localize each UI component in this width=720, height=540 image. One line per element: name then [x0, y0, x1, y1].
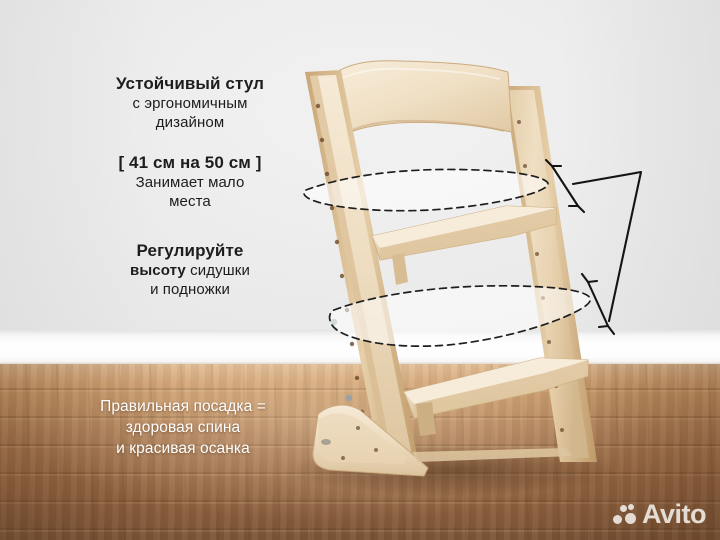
callout-adjustable-line2-rest: сидушки [186, 262, 250, 279]
callout-adjustable-line2: высоту сидушки [40, 261, 340, 280]
callout-adjustable-line1: Регулируйте [40, 240, 340, 261]
avito-watermark: Avito [613, 501, 706, 528]
callout-footprint: [ 41 см на 50 см ] Занимает мало места [40, 152, 340, 211]
product-photo-canvas: Устойчивый стул с эргономичным дизайном … [0, 0, 720, 540]
callout-footprint-line3: места [40, 192, 340, 211]
avito-dots-icon [613, 504, 637, 526]
floor-caption-line1: Правильная посадка = [28, 396, 338, 417]
callout-stability-line1: Устойчивый стул [40, 74, 340, 94]
chair-backrest [330, 61, 512, 142]
avito-wordmark: Avito [642, 501, 706, 528]
chair-seat-bracket [392, 253, 408, 285]
callout-stability-line2: с эргономичным [40, 94, 340, 113]
callout-adjustable: Регулируйте высоту сидушки и подножки [40, 240, 340, 299]
callout-stability-line3: дизайном [40, 113, 340, 132]
floor-caption-line2: здоровая спина [28, 417, 338, 438]
floor-caption-line3: и красивая осанка [28, 438, 338, 459]
callout-stability: Устойчивый стул с эргономичным дизайном [40, 74, 340, 132]
callout-adjustable-line3: и подножки [40, 280, 340, 299]
callout-adjustable-line2-bold: высоту [130, 262, 186, 279]
floor-caption: Правильная посадка = здоровая спина и кр… [28, 396, 338, 459]
callout-footprint-line2: Занимает мало [40, 173, 340, 192]
callout-footprint-dimensions: [ 41 см на 50 см ] [40, 152, 340, 173]
